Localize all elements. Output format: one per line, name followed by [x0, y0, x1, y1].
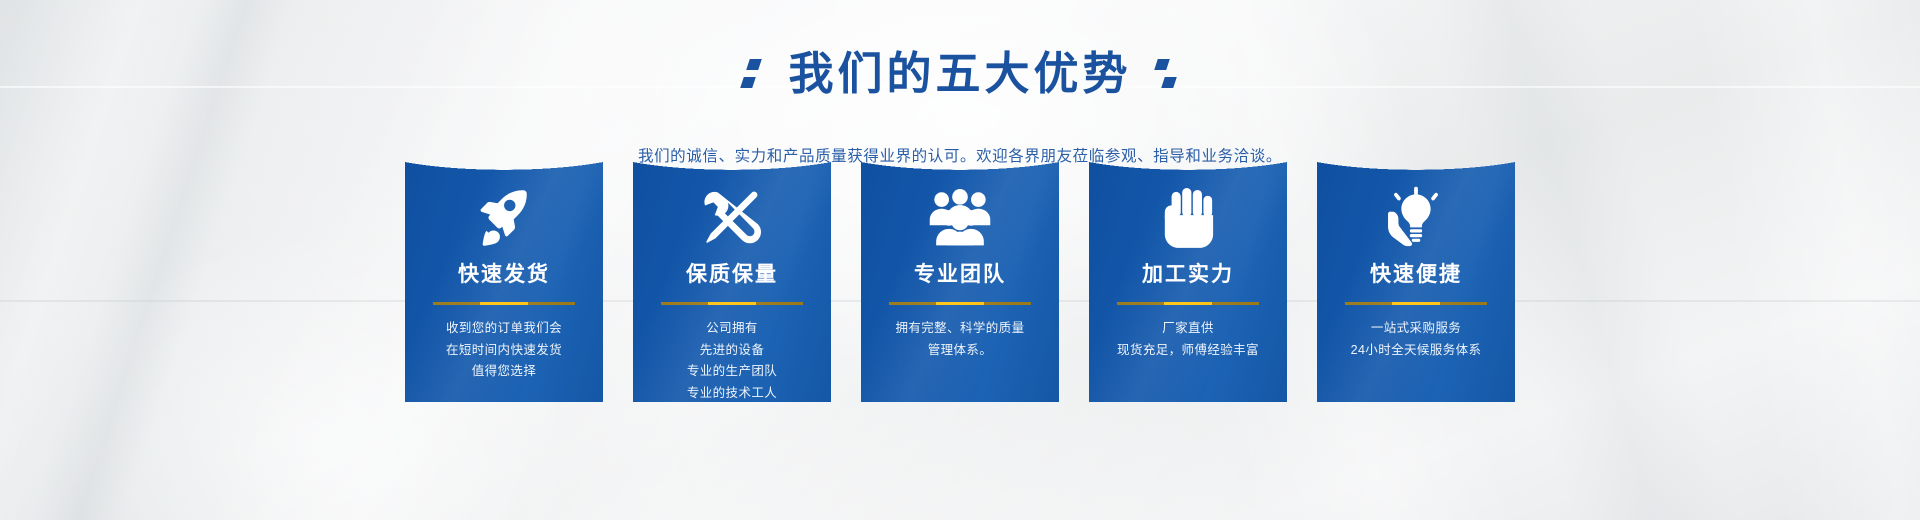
- advantage-card[interactable]: 专业团队 拥有完整、科学的质量 管理体系。: [861, 140, 1059, 402]
- advantage-card[interactable]: 快速便捷 一站式采购服务 24小时全天候服务体系: [1317, 140, 1515, 402]
- advantage-card[interactable]: 快速发货 收到您的订单我们会 在短时间内快速发货 值得您选择: [405, 140, 603, 402]
- diamond-dots-right-icon: [1154, 57, 1180, 91]
- advantage-card-list: 快速发货 收到您的订单我们会 在短时间内快速发货 值得您选择: [0, 140, 1920, 402]
- desc-line: 管理体系。: [861, 340, 1059, 362]
- team-people-icon: [861, 174, 1059, 260]
- advantage-card-desc: 收到您的订单我们会 在短时间内快速发货 值得您选择: [405, 318, 603, 383]
- fist-hand-icon: [1089, 174, 1287, 260]
- desc-line: 专业的技术工人: [633, 383, 831, 403]
- wrench-screwdriver-icon: [633, 174, 831, 260]
- desc-line: 收到您的订单我们会: [405, 318, 603, 340]
- advantage-card-title: 快速便捷: [1317, 264, 1515, 285]
- advantage-card-desc: 厂家直供 现货充足，师傅经验丰富: [1089, 318, 1287, 361]
- desc-line: 值得您选择: [405, 361, 603, 383]
- desc-line: 拥有完整、科学的质量: [861, 318, 1059, 340]
- advantage-card[interactable]: 加工实力 厂家直供 现货充足，师傅经验丰富: [1089, 140, 1287, 402]
- lightbulb-hands-icon: [1317, 174, 1515, 260]
- card-divider: [661, 302, 803, 305]
- card-divider: [1345, 302, 1487, 305]
- page-title: 我们的五大优势: [788, 48, 1131, 100]
- desc-line: 现货充足，师傅经验丰富: [1089, 340, 1287, 362]
- advantage-card-title: 加工实力: [1089, 264, 1287, 285]
- advantages-banner: 我们的五大优势 我们的诚信、实力和产品质量获得业界的认可。欢迎各界朋友莅临参观、…: [0, 0, 1920, 520]
- advantage-card-title: 专业团队: [861, 264, 1059, 285]
- advantage-card-desc: 公司拥有 先进的设备 专业的生产团队 专业的技术工人: [633, 318, 831, 402]
- title-row: 我们的五大优势: [0, 18, 1920, 130]
- card-divider: [889, 302, 1031, 305]
- rocket-icon: [405, 174, 603, 260]
- card-divider: [433, 302, 575, 305]
- advantage-card-desc: 拥有完整、科学的质量 管理体系。: [861, 318, 1059, 361]
- desc-line: 厂家直供: [1089, 318, 1287, 340]
- desc-line: 在短时间内快速发货: [405, 340, 603, 362]
- desc-line: 先进的设备: [633, 340, 831, 362]
- desc-line: 一站式采购服务: [1317, 318, 1515, 340]
- desc-line: 公司拥有: [633, 318, 831, 340]
- advantage-card[interactable]: 保质保量 公司拥有 先进的设备 专业的生产团队 专业的技术工人: [633, 140, 831, 402]
- card-divider: [1117, 302, 1259, 305]
- desc-line: 24小时全天候服务体系: [1317, 340, 1515, 362]
- advantage-card-title: 保质保量: [633, 264, 831, 285]
- advantage-card-desc: 一站式采购服务 24小时全天候服务体系: [1317, 318, 1515, 361]
- desc-line: 专业的生产团队: [633, 361, 831, 383]
- diamond-dots-left-icon: [740, 57, 766, 91]
- advantage-card-title: 快速发货: [405, 264, 603, 285]
